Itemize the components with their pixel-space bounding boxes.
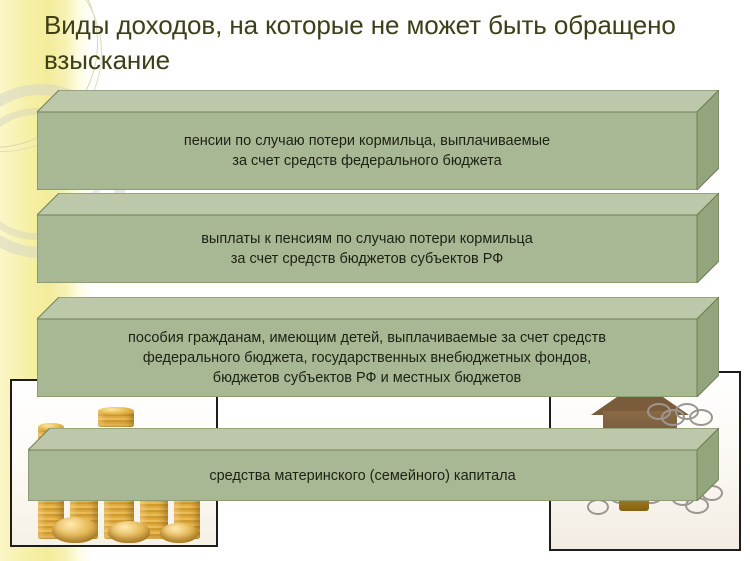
coin-top-face — [98, 407, 134, 415]
bar-label: выплаты к пенсиям по случаю потери корми… — [175, 229, 559, 269]
chain-link — [587, 499, 609, 515]
bar-label: пенсии по случаю потери кормильца, выпла… — [158, 131, 576, 171]
slide-title: Виды доходов, на которые не может быть о… — [44, 8, 704, 77]
prism-bar-pensions-federal: пенсии по случаю потери кормильца, выпла… — [37, 90, 719, 190]
coin-pile — [52, 517, 98, 543]
bar-label: средства материнского (семейного) капита… — [183, 466, 541, 486]
coin-stack — [98, 411, 134, 427]
prism-bar-maternity-capital: средства материнского (семейного) капита… — [28, 428, 719, 501]
coin-pile — [160, 523, 198, 543]
prism-bar-payments-regional: выплаты к пенсиям по случаю потери корми… — [37, 193, 719, 283]
slide-canvas: Виды доходов, на которые не может быть о… — [0, 0, 750, 561]
coin-pile — [108, 521, 150, 543]
bar-label: пособия гражданам, имеющим детей, выплач… — [102, 328, 632, 388]
chain-link — [689, 409, 713, 426]
prism-bar-child-benefits: пособия гражданам, имеющим детей, выплач… — [37, 297, 719, 397]
